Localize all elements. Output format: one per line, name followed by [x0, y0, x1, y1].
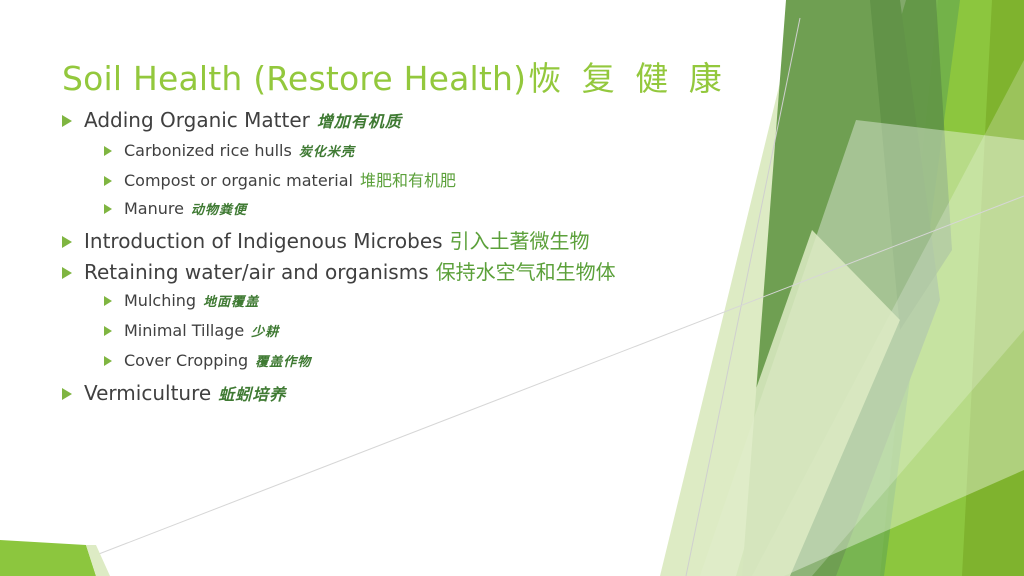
list-item-mulching: Mulching地面覆盖: [62, 289, 702, 315]
list-item-text: Vermiculture蚯蚓培养: [84, 379, 702, 409]
list-item-label-en: Minimal Tillage: [124, 321, 244, 340]
list-item-label-en: Introduction of Indigenous Microbes: [84, 229, 443, 253]
facet-lime-far-right: [962, 0, 1024, 576]
arrow-bullet-icon: [104, 349, 124, 366]
list-item-label-en: Cover Cropping: [124, 351, 248, 370]
list-item-label-en: Carbonized rice hulls: [124, 141, 292, 160]
list-item-label-cn: 炭化米壳: [299, 145, 355, 160]
facet-bottom-left-corner: [0, 540, 96, 576]
triangle-right-icon: [104, 176, 112, 186]
page-title-cn: 恢 复 健 康: [528, 59, 726, 98]
triangle-right-icon: [104, 204, 112, 214]
facet-pale-wide: [690, 0, 1024, 576]
triangle-right-icon: [104, 296, 112, 306]
triangle-right-icon: [104, 356, 112, 366]
list-item-compost-or-organic-material: Compost or organic material堆肥和有机肥: [62, 169, 702, 193]
page-title-en: Soil Health (Restore Health): [62, 59, 526, 98]
list-item-text: Carbonized rice hulls炭化米壳: [124, 139, 702, 165]
arrow-bullet-icon: [104, 169, 124, 186]
list-item-text: Introduction of Indigenous Microbes引入土著微…: [84, 227, 702, 255]
list-item-introduction-of-indigenous-microbes: Introduction of Indigenous Microbes引入土著微…: [62, 227, 702, 255]
list-item-text: Mulching地面覆盖: [124, 289, 702, 315]
list-item-label-en: Retaining water/air and organisms: [84, 260, 429, 284]
arrow-bullet-icon: [104, 139, 124, 156]
arrow-bullet-icon: [104, 197, 124, 214]
list-item-label-cn: 增加有机质: [317, 112, 402, 131]
page-title: Soil Health (Restore Health)恢 复 健 康: [62, 52, 722, 100]
list-item-label-cn: 引入土著微生物: [450, 229, 590, 253]
list-item-label-cn: 地面覆盖: [203, 295, 259, 310]
arrow-bullet-icon: [104, 289, 124, 306]
facet-pale-bottom: [690, 230, 900, 576]
list-item-label-cn: 覆盖作物: [255, 355, 311, 370]
triangle-right-icon: [62, 236, 72, 248]
list-item-label-en: Vermiculture: [84, 381, 211, 405]
triangle-right-icon: [104, 146, 112, 156]
list-item-text: Retaining water/air and organisms保持水空气和生…: [84, 258, 702, 286]
arrow-bullet-icon: [62, 258, 84, 279]
arrow-bullet-icon: [62, 106, 84, 127]
triangle-right-icon: [62, 388, 72, 400]
list-item-label-en: Mulching: [124, 291, 196, 310]
list-item-carbonized-rice-hulls: Carbonized rice hulls炭化米壳: [62, 139, 702, 165]
list-item-adding-organic-matter: Adding Organic Matter增加有机质: [62, 106, 702, 136]
list-item-text: Cover Cropping覆盖作物: [124, 349, 702, 375]
list-item-text: Adding Organic Matter增加有机质: [84, 106, 702, 136]
slide-canvas: Soil Health (Restore Health)恢 复 健 康 Addi…: [0, 0, 1024, 576]
arrow-bullet-icon: [62, 379, 84, 400]
facet-dark-green-overlap: [870, 0, 952, 330]
arrow-bullet-icon: [62, 227, 84, 248]
list-item-label-cn: 蚯蚓培养: [218, 385, 286, 404]
list-item-label-en: Adding Organic Matter: [84, 108, 310, 132]
list-item-label-en: Compost or organic material: [124, 171, 353, 190]
facet-translucent-sheet-2: [752, 60, 1024, 576]
facet-lime-right: [880, 0, 1024, 576]
list-item-label-cn: 少耕: [251, 325, 279, 340]
decor-line-upper: [686, 18, 800, 576]
triangle-right-icon: [62, 115, 72, 127]
list-item-label-cn: 堆肥和有机肥: [360, 171, 456, 190]
list-item-text: Compost or organic material堆肥和有机肥: [124, 169, 702, 193]
list-item-vermiculture: Vermiculture蚯蚓培养: [62, 379, 702, 409]
list-item-label-en: Manure: [124, 199, 184, 218]
list-item-text: Minimal Tillage少耕: [124, 319, 702, 345]
list-item-cover-cropping: Cover Cropping覆盖作物: [62, 349, 702, 375]
list-item-text: Manure动物粪便: [124, 197, 702, 223]
bullet-list: Adding Organic Matter增加有机质Carbonized ric…: [62, 106, 702, 412]
facet-translucent-sheet: [700, 120, 1024, 576]
list-item-label-cn: 动物粪便: [191, 203, 247, 218]
list-item-label-cn: 保持水空气和生物体: [436, 260, 616, 284]
facet-dark-green: [742, 0, 940, 576]
list-item-minimal-tillage: Minimal Tillage少耕: [62, 319, 702, 345]
list-item-manure: Manure动物粪便: [62, 197, 702, 223]
facet-bottom-left-corner-pale: [86, 545, 110, 576]
list-item-retaining-water-air-and-organisms: Retaining water/air and organisms保持水空气和生…: [62, 258, 702, 286]
triangle-right-icon: [104, 326, 112, 336]
facet-mid-green: [736, 0, 960, 576]
arrow-bullet-icon: [104, 319, 124, 336]
triangle-right-icon: [62, 267, 72, 279]
